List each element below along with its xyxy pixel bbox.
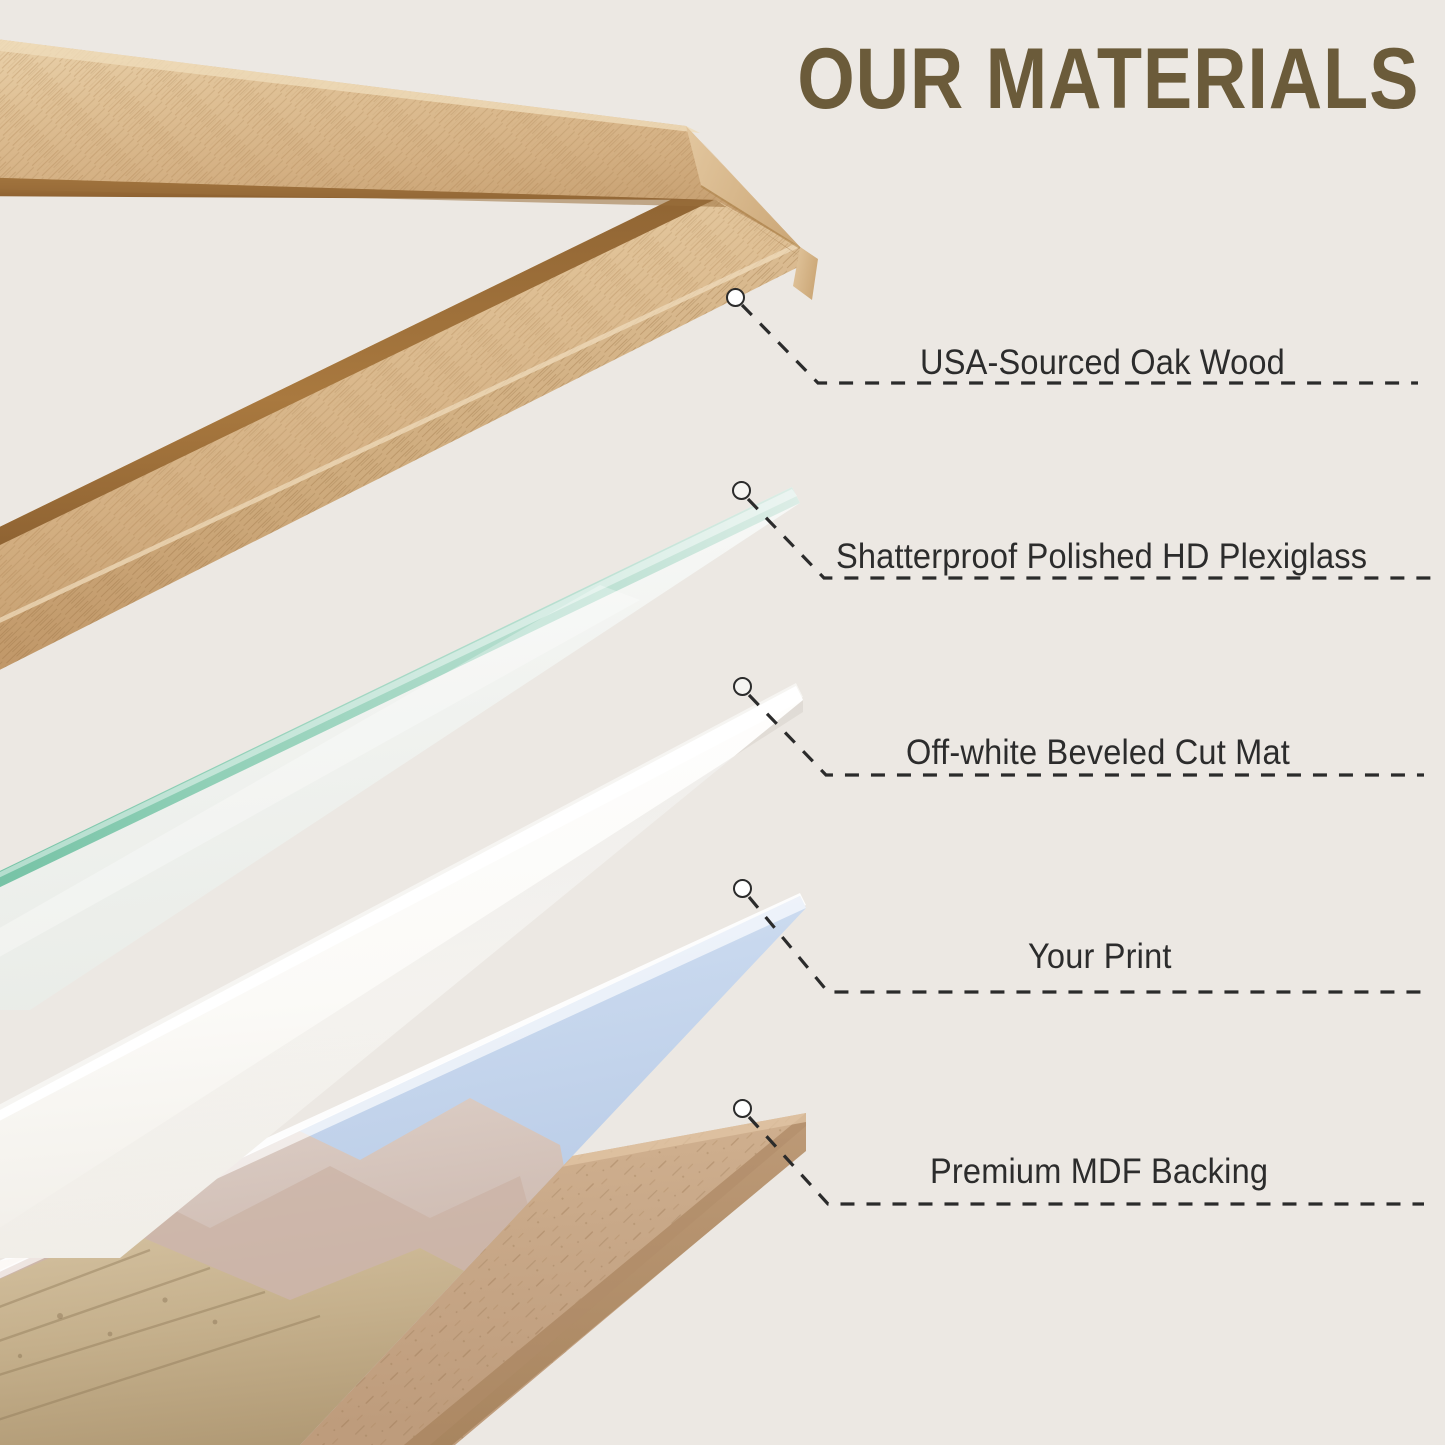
callout-labels: USA-Sourced Oak Wood Shatterproof Polish… [0,0,1445,1445]
infographic-canvas: USA-Sourced Oak Wood Shatterproof Polish… [0,0,1445,1445]
callout-label-mat: Off-white Beveled Cut Mat [906,733,1290,773]
callout-label-plexiglass: Shatterproof Polished HD Plexiglass [836,537,1367,577]
callout-label-backing: Premium MDF Backing [930,1152,1268,1192]
page-title: OUR MATERIALS [797,34,1419,124]
callout-label-oak: USA-Sourced Oak Wood [920,343,1285,383]
callout-label-print: Your Print [1028,937,1172,977]
